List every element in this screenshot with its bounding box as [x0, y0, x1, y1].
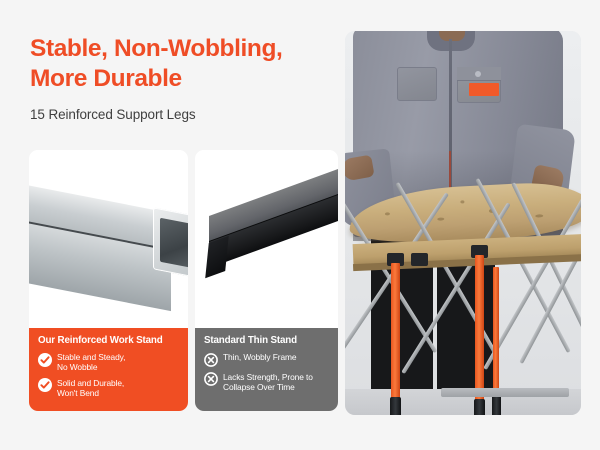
jacket-pocket-left [397, 67, 437, 101]
thin-black-tube-illustration [209, 198, 338, 308]
subheadline: 15 Reinforced Support Legs [30, 107, 196, 122]
orange-center-post [391, 263, 400, 401]
list-item: Solid and Durable, Won't Bend [38, 378, 179, 399]
check-circle-icon [38, 378, 52, 392]
comparison-card-standard: Standard Thin Stand Thin, Wobbly Frame [195, 150, 338, 411]
black-rubber-foot [474, 399, 485, 415]
reinforced-card-title: Our Reinforced Work Stand [38, 335, 179, 346]
list-item: Thin, Wobbly Frame [204, 352, 329, 367]
list-item: Stable and Steady, No Wobble [38, 352, 179, 373]
bullet-text: Stable and Steady, No Wobble [57, 352, 125, 373]
orange-brand-tag [469, 83, 499, 96]
bullet-text: Solid and Durable, Won't Bend [57, 378, 124, 399]
orange-center-post [493, 267, 499, 395]
list-item: Lacks Strength, Prone to Collapse Over T… [204, 372, 329, 393]
headline-line-1: Stable, Non-Wobbling, [30, 34, 340, 64]
hero-product-photo [345, 31, 581, 415]
x-circle-icon [204, 353, 218, 367]
worker-neck [439, 31, 465, 41]
orange-center-post [475, 255, 484, 403]
reinforced-footer-panel: Our Reinforced Work Stand Stable and Ste… [29, 328, 188, 411]
black-rubber-foot [390, 397, 401, 415]
silver-tube-photo [29, 150, 188, 328]
base-plate [441, 388, 569, 397]
check-circle-icon [38, 353, 52, 367]
standard-card-title: Standard Thin Stand [204, 335, 329, 346]
silver-square-tube-illustration [29, 184, 188, 296]
bullet-text: Thin, Wobbly Frame [223, 352, 296, 362]
product-feature-banner: Stable, Non-Wobbling, More Durable 15 Re… [0, 0, 600, 450]
leg-bracket [411, 253, 428, 266]
comparison-card-reinforced: Our Reinforced Work Stand Stable and Ste… [29, 150, 188, 411]
bullet-text: Lacks Strength, Prone to Collapse Over T… [223, 372, 313, 393]
x-circle-icon [204, 372, 218, 386]
black-tube-photo [195, 150, 338, 328]
standard-footer-panel: Standard Thin Stand Thin, Wobbly Frame [195, 328, 338, 411]
headline-line-2: More Durable [30, 64, 340, 94]
headline-block: Stable, Non-Wobbling, More Durable [30, 34, 340, 94]
jacket-pocket-button [475, 71, 481, 77]
